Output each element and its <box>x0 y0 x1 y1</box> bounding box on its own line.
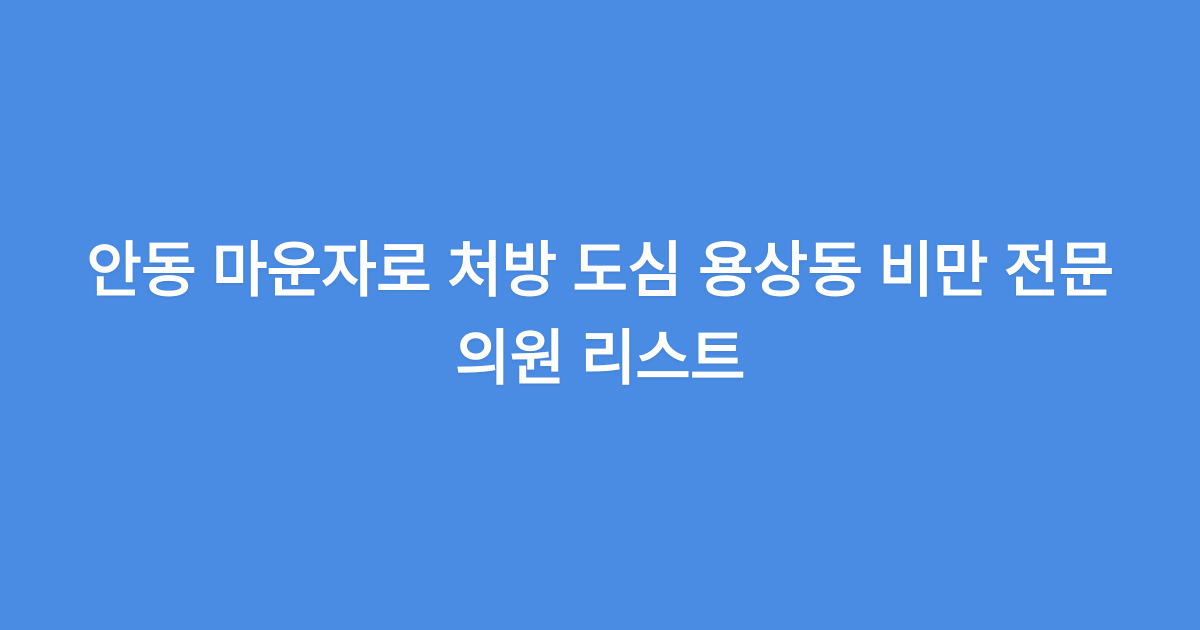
card-content-wrapper: 안동 마운자로 처방 도심 용상동 비만 전문 의원 리스트 <box>0 227 1200 403</box>
og-share-card: 안동 마운자로 처방 도심 용상동 비만 전문 의원 리스트 <box>0 0 1200 630</box>
page-title: 안동 마운자로 처방 도심 용상동 비만 전문 의원 리스트 <box>80 227 1120 403</box>
